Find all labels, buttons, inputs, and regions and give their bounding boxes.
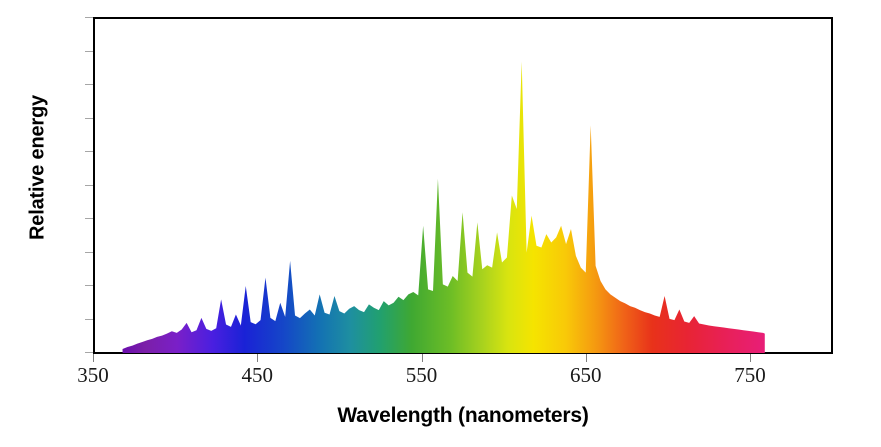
x-axis-tick (586, 354, 587, 362)
y-axis-title: Relative energy (27, 58, 50, 278)
x-axis-tick (750, 354, 751, 362)
x-axis-tick (257, 354, 258, 362)
x-axis-tick-label: 450 (217, 363, 297, 388)
spectral-power-distribution-chart: Relative energy (0, 0, 881, 447)
y-axis-tick (85, 17, 93, 18)
x-axis-tick-label: 550 (382, 363, 462, 388)
y-axis-tick (85, 118, 93, 119)
y-axis-tick (85, 285, 93, 286)
y-axis-tick (85, 352, 93, 353)
y-axis-tick (85, 84, 93, 85)
y-axis-tick (85, 252, 93, 253)
y-axis-tick (85, 51, 93, 52)
x-axis-tick (93, 354, 94, 362)
y-axis-tick (85, 218, 93, 219)
spectrum-area-plot (94, 18, 832, 353)
x-axis-tick-label: 650 (546, 363, 626, 388)
x-axis-tick-label: 350 (53, 363, 133, 388)
y-axis-tick (85, 185, 93, 186)
y-axis-tick (85, 151, 93, 152)
y-axis-tick (85, 319, 93, 320)
x-axis-title: Wavelength (nanometers) (93, 404, 833, 428)
x-axis-tick-label: 750 (710, 363, 790, 388)
x-axis-tick (422, 354, 423, 362)
